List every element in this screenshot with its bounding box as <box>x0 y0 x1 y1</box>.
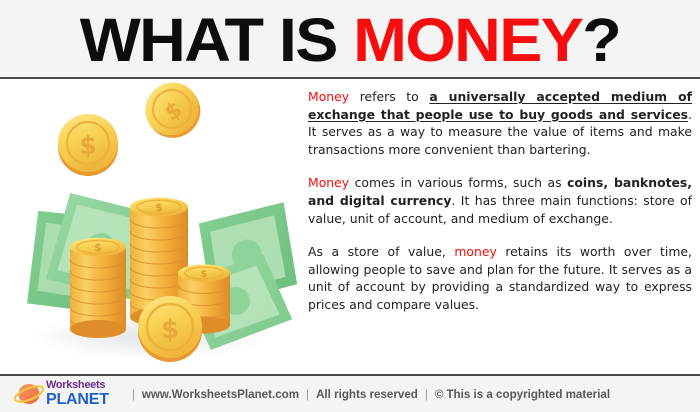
title-part-what-is: WHAT IS <box>80 6 353 74</box>
keyword-money: Money <box>308 175 349 190</box>
coin-floating-left: $ <box>58 114 118 176</box>
worksheet-page: WHAT IS MONEY? <box>0 0 700 412</box>
brand-line-planet: PLANET <box>46 392 109 408</box>
paragraph-1: Money refers to a universally accepted m… <box>308 88 692 158</box>
coin-floating-right: $ <box>135 79 210 148</box>
keyword-money: money <box>454 244 496 259</box>
footer-website[interactable]: www.WorksheetsPlanet.com <box>142 388 299 401</box>
coin-symbol: $ <box>94 241 102 254</box>
planet-icon <box>13 381 45 407</box>
title-part-question-mark: ? <box>582 6 620 74</box>
coin-single-front: $ <box>138 296 202 362</box>
coin-symbol: $ <box>79 131 96 160</box>
coin-symbol: $ <box>161 315 179 345</box>
header-banner: WHAT IS MONEY? <box>0 0 700 78</box>
paragraph-1-text-a: refers to <box>349 89 429 104</box>
page-title: WHAT IS MONEY? <box>80 10 621 71</box>
footer-separator-1: | <box>125 388 142 401</box>
copyright-icon: © <box>435 388 444 401</box>
keyword-money: Money <box>308 89 349 104</box>
paragraph-3: As a store of value, money retains its w… <box>308 243 692 313</box>
paragraph-2: Money comes in various forms, such as co… <box>308 174 692 227</box>
footer-rights: All rights reserved <box>316 388 418 401</box>
title-part-money: MONEY <box>353 6 582 74</box>
brand-logo[interactable]: Worksheets PLANET <box>13 380 109 408</box>
footer-separator-3: | <box>418 388 435 401</box>
coin-stack-left: $ <box>70 238 126 338</box>
paragraph-3-text-a: As a store of value, <box>308 244 454 259</box>
coin-symbol: $ <box>155 201 163 214</box>
footer-copyright-text: This is a copyrighted material <box>446 388 610 401</box>
footer-credits: |www.WorksheetsPlanet.com|All rights res… <box>125 388 610 401</box>
paragraph-2-text-a: comes in various forms, such as <box>349 175 567 190</box>
brand-line-worksheets: Worksheets <box>46 380 109 391</box>
main-content: $ $ <box>0 79 700 374</box>
money-illustration: $ $ <box>0 79 300 374</box>
money-illustration-svg: $ $ <box>0 79 300 374</box>
footer-bar: Worksheets PLANET |www.WorksheetsPlanet.… <box>0 376 700 412</box>
footer-separator-2: | <box>299 388 316 401</box>
brand-wordmark: Worksheets PLANET <box>46 380 109 408</box>
definition-text-column: Money refers to a universally accepted m… <box>308 88 692 368</box>
coin-symbol: $ <box>201 269 208 280</box>
